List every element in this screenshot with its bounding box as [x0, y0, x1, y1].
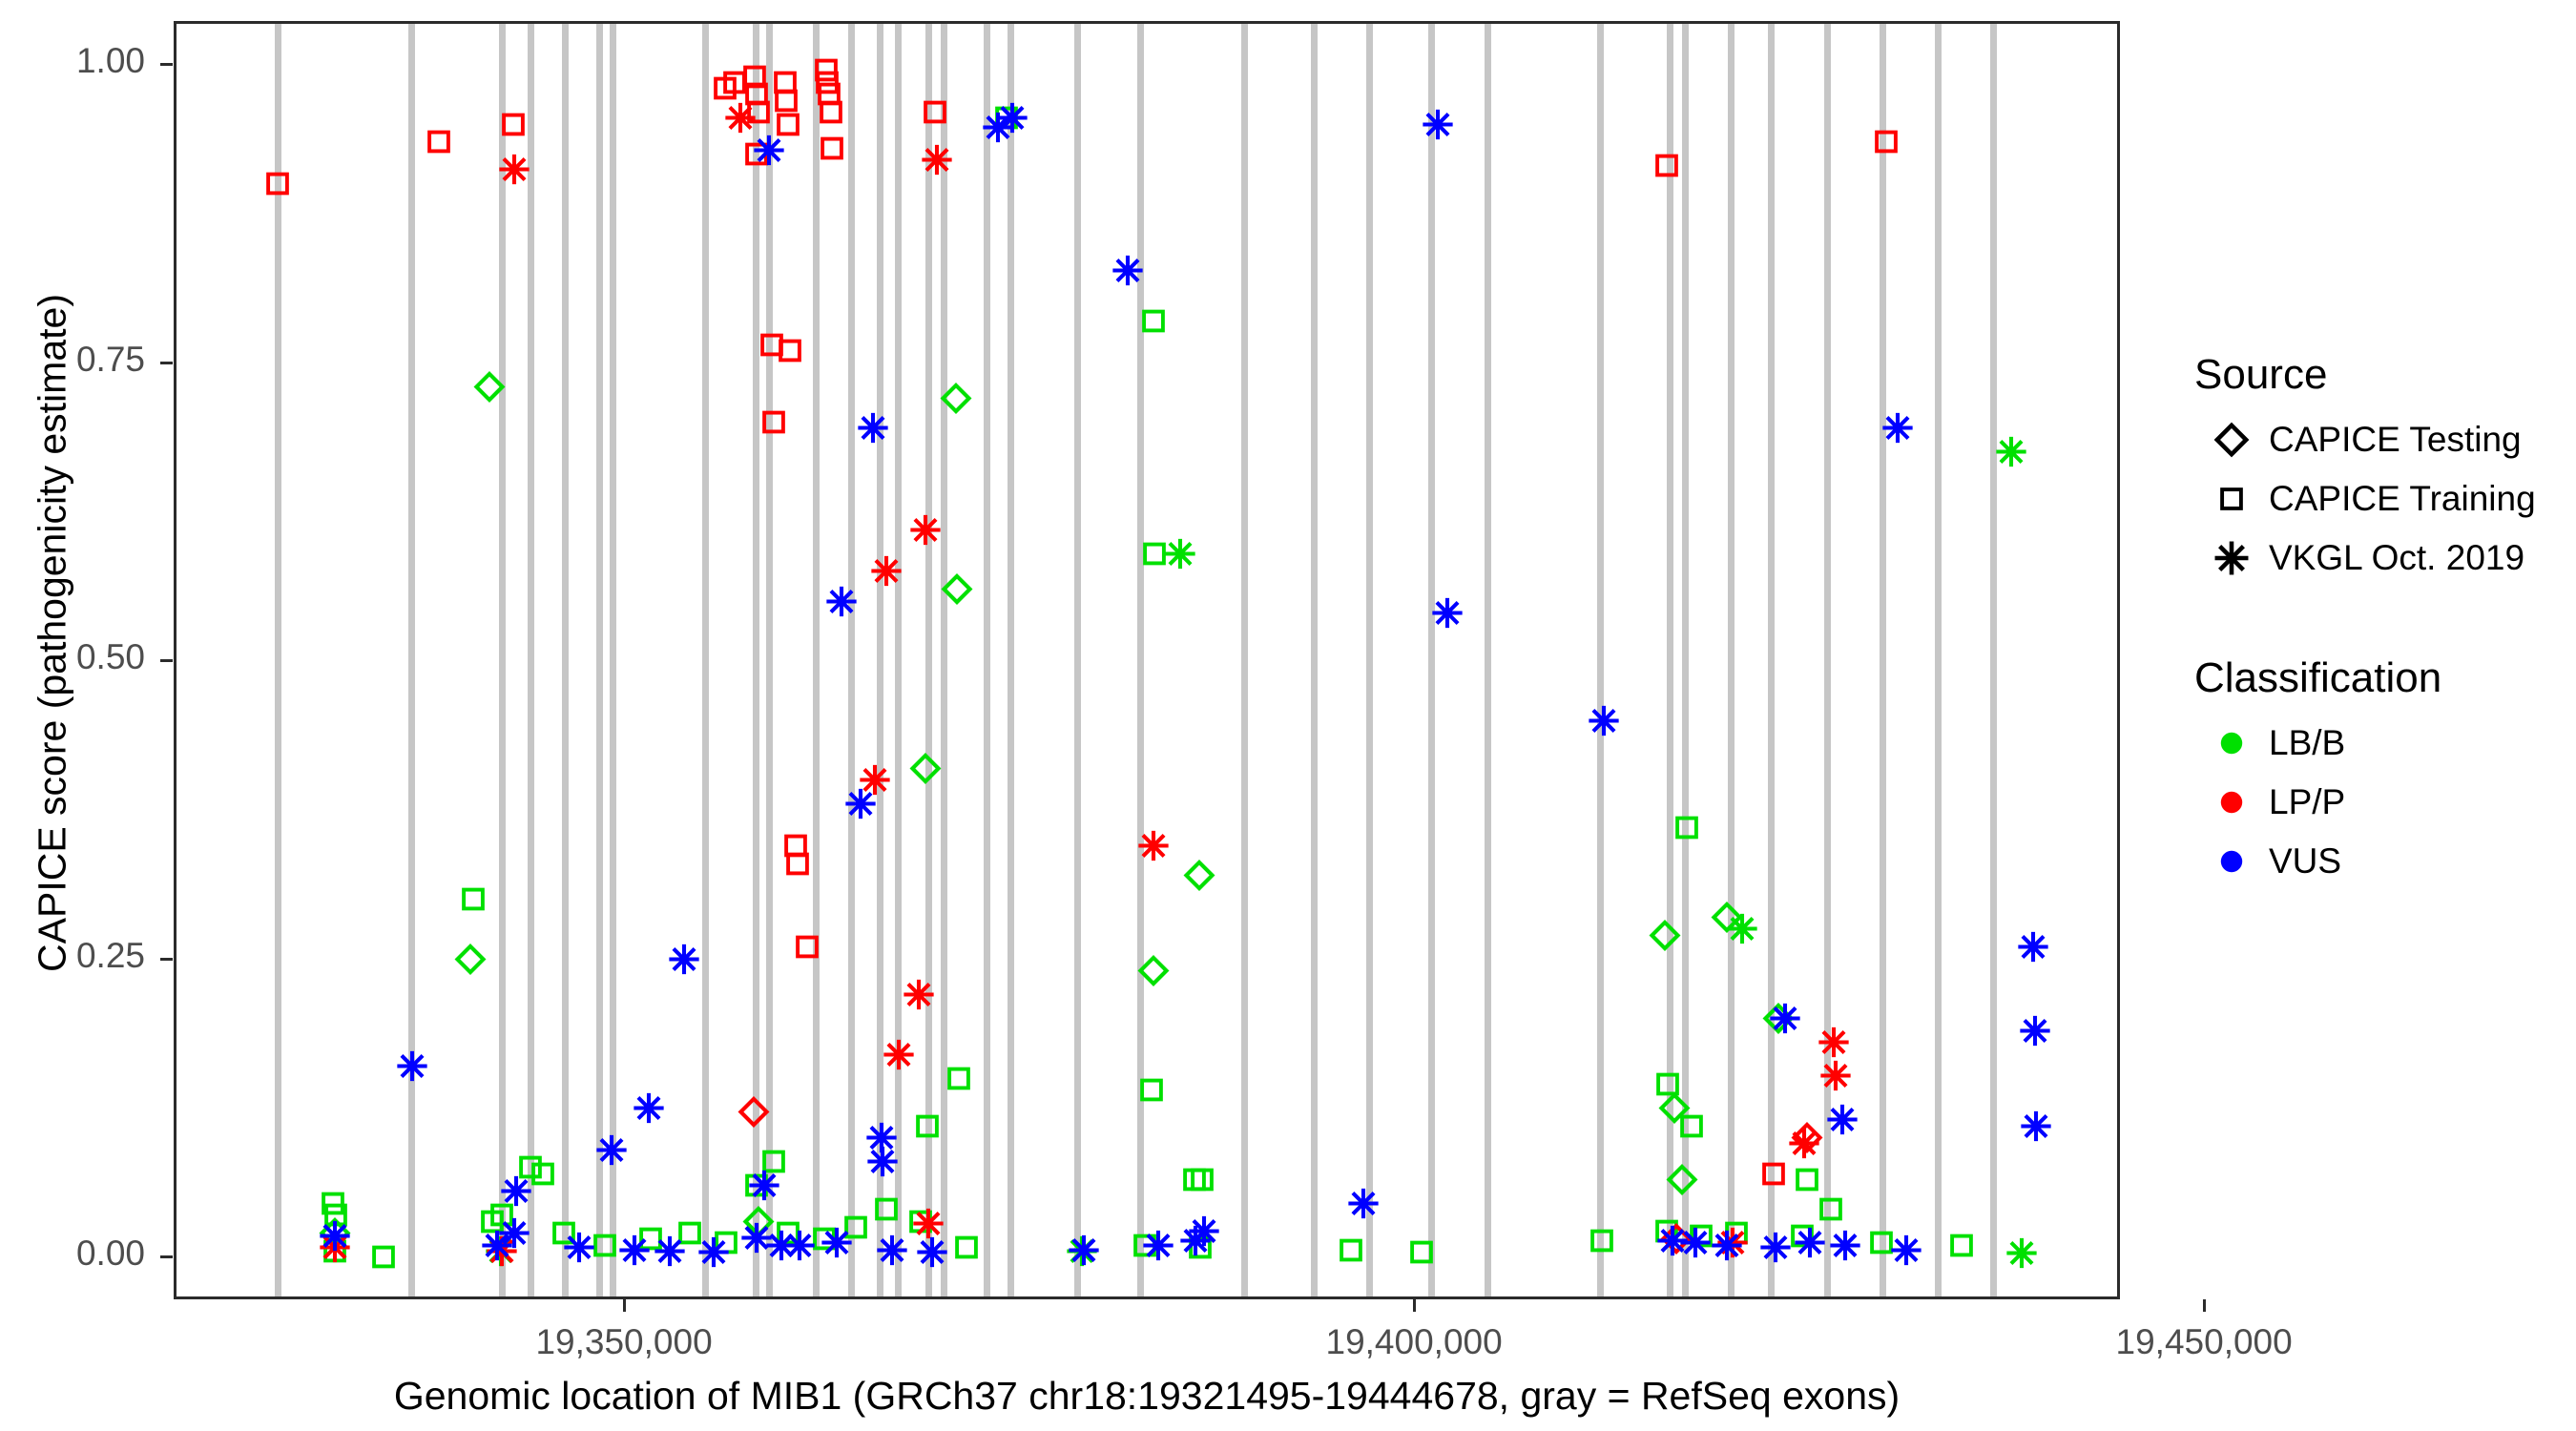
data-point: [425, 128, 453, 161]
exon-band: [610, 24, 616, 1296]
data-point: [319, 1189, 347, 1222]
legend-item-classification-lb-b[interactable]: LB/B: [2194, 714, 2566, 773]
data-point: [945, 1064, 973, 1097]
exon-band: [877, 24, 883, 1296]
data-point: [633, 1091, 665, 1129]
legend-item-label: CAPICE Training: [2269, 479, 2536, 519]
legend-classification-items: LB/BLP/PVUS: [2194, 714, 2566, 891]
exon-band: [925, 24, 932, 1296]
legend-item-classification-lp-p[interactable]: LP/P: [2194, 773, 2566, 832]
y-tick-label: 1.00: [0, 41, 145, 81]
data-point: [1068, 1234, 1100, 1271]
exon-band: [1597, 24, 1604, 1296]
exon-band: [1137, 24, 1144, 1296]
data-point: [783, 849, 812, 882]
data-point: [1890, 1234, 1922, 1271]
data-point: [1788, 1128, 1820, 1165]
data-point: [319, 1219, 351, 1256]
data-point: [618, 1234, 651, 1271]
x-tick-label: 19,450,000: [2116, 1322, 2293, 1362]
data-point: [1431, 597, 1464, 634]
exon-band: [596, 24, 603, 1296]
legend-item-label: CAPICE Testing: [2269, 420, 2522, 460]
data-point: [1788, 1221, 1817, 1255]
exon-band: [702, 24, 709, 1296]
legend-source-items: CAPICE TestingCAPICE TrainingVKGL Oct. 2…: [2194, 410, 2566, 588]
exon-band: [1428, 24, 1435, 1296]
data-point: [1794, 1227, 1826, 1264]
data-point: [771, 68, 800, 101]
data-point: [1337, 1235, 1365, 1269]
exon-band: [499, 24, 506, 1296]
data-point: [1759, 1232, 1792, 1269]
data-point: [2019, 1014, 2051, 1051]
data-point: [1180, 1165, 1209, 1198]
data-point: [1183, 860, 1215, 897]
data-point: [776, 337, 804, 370]
exon-band: [1311, 24, 1318, 1296]
legend-item-label: VKGL Oct. 2019: [2269, 538, 2524, 578]
exon-band: [1008, 24, 1014, 1296]
y-tick-mark: [160, 63, 173, 66]
y-tick-label: 0.50: [0, 637, 145, 677]
data-point: [1687, 1221, 1715, 1255]
data-point: [783, 1229, 816, 1266]
data-point: [759, 408, 788, 442]
x-tick-mark: [2203, 1299, 2206, 1312]
y-tick-mark: [160, 1255, 173, 1258]
data-point: [712, 1229, 740, 1262]
exon-band: [1485, 24, 1491, 1296]
exon-band: [1682, 24, 1689, 1296]
exon-band: [1667, 24, 1673, 1296]
data-point: [2005, 1237, 2038, 1275]
data-point: [481, 1229, 513, 1266]
data-point: [724, 102, 757, 139]
x-tick-label: 19,350,000: [535, 1322, 712, 1362]
data-point: [1179, 1224, 1212, 1261]
plot-area: [177, 24, 2117, 1296]
x-axis-label: Genomic location of MIB1 (GRCh37 chr18:1…: [174, 1374, 2120, 1419]
data-point: [2020, 1110, 2052, 1147]
exon-band: [1935, 24, 1942, 1296]
data-point: [1711, 901, 1743, 938]
data-point: [1188, 1214, 1220, 1252]
y-tick-label: 0.25: [0, 936, 145, 976]
data-point: [781, 831, 810, 864]
data-point: [1140, 539, 1169, 572]
data-point: [772, 86, 800, 119]
exon-band: [813, 24, 820, 1296]
data-point: [319, 1232, 351, 1269]
legend: Source CAPICE TestingCAPICE TrainingVKGL…: [2194, 353, 2566, 891]
data-point: [859, 764, 891, 801]
exon-band: [1241, 24, 1248, 1296]
data-point: [1131, 1231, 1159, 1264]
exon-band: [895, 24, 902, 1296]
data-point: [818, 134, 846, 167]
plot-panel: [174, 21, 2120, 1299]
exon-band: [753, 24, 759, 1296]
y-tick-mark: [160, 958, 173, 961]
data-point: [319, 1217, 351, 1255]
color-swatch-icon: [2194, 786, 2269, 819]
exon-band: [1366, 24, 1373, 1296]
data-point: [1649, 919, 1681, 956]
legend-classification-title: Classification: [2194, 656, 2566, 700]
exon-band: [1824, 24, 1831, 1296]
data-point: [454, 943, 487, 980]
y-tick-mark: [160, 659, 173, 662]
data-point: [1186, 1234, 1215, 1267]
data-point: [1142, 1229, 1174, 1266]
data-point: [1793, 1165, 1821, 1198]
legend-item-source-square[interactable]: CAPICE Training: [2194, 469, 2566, 529]
data-point: [952, 1234, 981, 1267]
exon-band: [1728, 24, 1735, 1296]
data-point: [321, 1236, 349, 1270]
data-point: [774, 110, 802, 143]
y-axis-label: CAPICE score (pathogenicity estimate): [31, 61, 75, 1206]
exon-band: [941, 24, 947, 1296]
exon-band: [984, 24, 990, 1296]
color-swatch-icon: [2194, 845, 2269, 878]
exon-band: [848, 24, 855, 1296]
data-point: [1188, 1165, 1216, 1198]
exon-band: [766, 24, 773, 1296]
exon-band: [528, 24, 534, 1296]
data-point: [774, 1219, 802, 1253]
data-point: [711, 74, 739, 108]
data-point: [1791, 1122, 1823, 1159]
legend-item-label: VUS: [2269, 841, 2341, 881]
data-point: [992, 104, 1021, 137]
x-tick-mark: [623, 1299, 626, 1312]
data-point: [759, 1148, 788, 1181]
data-point: [322, 1201, 350, 1234]
data-point: [668, 943, 700, 980]
data-point: [459, 885, 488, 919]
data-point: [1066, 1234, 1098, 1272]
data-point: [1947, 1231, 1976, 1264]
y-tick-label: 0.75: [0, 340, 145, 380]
x-tick-label: 19,400,000: [1326, 1322, 1503, 1362]
chart-root: CAPICE score (pathogenicity estimate) 0.…: [0, 0, 2576, 1431]
data-point: [1829, 1229, 1861, 1266]
diamond-icon: [2194, 422, 2269, 458]
y-tick-label: 0.00: [0, 1234, 145, 1274]
square-icon: [2194, 485, 2269, 513]
data-point: [841, 1213, 870, 1246]
legend-item-label: LB/B: [2269, 723, 2345, 763]
data-point: [1818, 1027, 1850, 1064]
legend-item-classification-vus[interactable]: VUS: [2194, 832, 2566, 891]
exon-band: [1880, 24, 1886, 1296]
asterisk-icon: [2194, 540, 2269, 576]
exon-band: [275, 24, 281, 1296]
data-point: [1711, 1229, 1743, 1266]
legend-item-source-asterisk[interactable]: VKGL Oct. 2019: [2194, 529, 2566, 588]
data-point: [1722, 1219, 1751, 1253]
legend-item-source-diamond[interactable]: CAPICE Testing: [2194, 410, 2566, 469]
data-point: [369, 1243, 398, 1276]
exon-band: [408, 24, 415, 1296]
data-point: [1164, 537, 1196, 574]
legend-item-label: LP/P: [2269, 782, 2345, 822]
data-point: [2017, 931, 2049, 968]
data-point: [1347, 1187, 1380, 1224]
x-tick-mark: [1413, 1299, 1416, 1312]
exon-band: [1990, 24, 1997, 1296]
data-point: [817, 98, 845, 132]
data-point: [675, 1219, 704, 1253]
data-point: [654, 1234, 686, 1272]
data-point: [636, 1225, 665, 1258]
exon-band: [1768, 24, 1775, 1296]
data-point: [720, 68, 749, 101]
data-point: [1422, 108, 1454, 145]
data-point: [857, 412, 889, 449]
legend-spacer: [2194, 588, 2566, 656]
exon-band: [562, 24, 569, 1296]
y-tick-mark: [160, 362, 173, 364]
legend-source-title: Source: [2194, 353, 2566, 397]
color-swatch-icon: [2194, 727, 2269, 759]
data-point: [1995, 436, 2027, 473]
exon-band: [1074, 24, 1081, 1296]
